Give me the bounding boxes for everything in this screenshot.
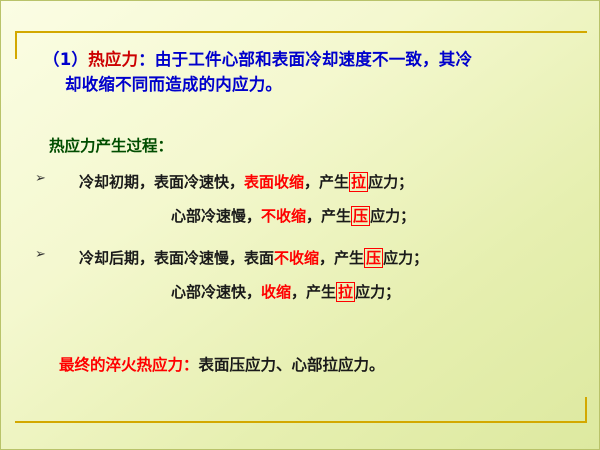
bullet-1-line-1-seg1: 冷却初期，表面冷速快， xyxy=(79,173,244,191)
bullet-1-line-1: 冷却初期，表面冷速快，表面收缩，产生拉应力； xyxy=(79,171,413,192)
bullet-2-line-2-seg4: 拉 xyxy=(336,282,355,302)
definition-paragraph: （1）热应力：由于工件心部和表面冷却速度不一致，其冷却收缩不同而造成的内应力。 xyxy=(43,47,563,97)
bullet-1-line-2-seg2: 不收缩 xyxy=(261,207,306,225)
bullet-1-line-1-seg2: 表面收缩 xyxy=(244,173,304,191)
bullet-2-line-2-seg2: 收缩 xyxy=(261,283,291,301)
conclusion-rest: 表面压应力、心部拉应力。 xyxy=(199,356,385,374)
bullet-1-line-2-seg4: 压 xyxy=(351,206,370,226)
definition-label-highlight: 热应力 xyxy=(88,50,138,69)
frame-bottom-line xyxy=(15,421,587,423)
definition-label-prefix: （1） xyxy=(43,50,88,69)
bullet-1-line-2: 心部冷速慢，不收缩，产生压应力； xyxy=(171,205,415,226)
definition-label-colon: ： xyxy=(138,50,155,69)
frame-left-line xyxy=(15,31,17,59)
bullet-2-line-1: 冷却后期，表面冷速慢，表面不收缩，产生压应力； xyxy=(79,247,428,268)
bullet-2-line-2: 心部冷速快，收缩，产生拉应力； xyxy=(171,281,400,302)
bullet-2-line-1-seg4: 压 xyxy=(364,248,383,268)
bullet-1-line-1-seg3: ，产生 xyxy=(304,173,349,191)
frame-top-line xyxy=(15,31,587,33)
bullet-1-line-2-seg1: 心部冷速慢， xyxy=(171,207,261,225)
bullet-marker: ➢ xyxy=(35,247,46,262)
definition-body-line2: 却收缩不同而造成的内应力。 xyxy=(43,72,563,97)
bullet-1-line-1-seg4: 拉 xyxy=(349,172,368,192)
bullet-1-line-2-seg3: ，产生 xyxy=(306,207,351,225)
bullet-2-line-2-seg5: 应力； xyxy=(355,283,400,301)
bullet-marker: ➢ xyxy=(35,171,46,186)
bullet-2-line-1-seg3: ，产生 xyxy=(319,249,364,267)
bullet-2-line-1-seg5: 应力； xyxy=(383,249,428,267)
frame-right-line xyxy=(585,397,587,423)
bullet-2-line-1-seg1: 冷却后期，表面冷速慢，表面 xyxy=(79,249,274,267)
conclusion-line: 最终的淬火热应力：表面压应力、心部拉应力。 xyxy=(59,353,385,375)
bullet-2-line-1-seg2: 不收缩 xyxy=(274,249,319,267)
conclusion-lead: 最终的淬火热应力： xyxy=(59,356,199,374)
bullet-2-line-2-seg3: ，产生 xyxy=(291,283,336,301)
definition-body-line1: 由于工件心部和表面冷却速度不一致，其冷 xyxy=(155,50,472,69)
bullet-2-line-2-seg1: 心部冷速快， xyxy=(171,283,261,301)
process-heading: 热应力产生过程： xyxy=(49,134,173,156)
bullet-1-line-2-seg5: 应力； xyxy=(370,207,415,225)
bullet-1-line-1-seg5: 应力； xyxy=(368,173,413,191)
slide-canvas: （1）热应力：由于工件心部和表面冷却速度不一致，其冷却收缩不同而造成的内应力。 … xyxy=(0,0,600,450)
